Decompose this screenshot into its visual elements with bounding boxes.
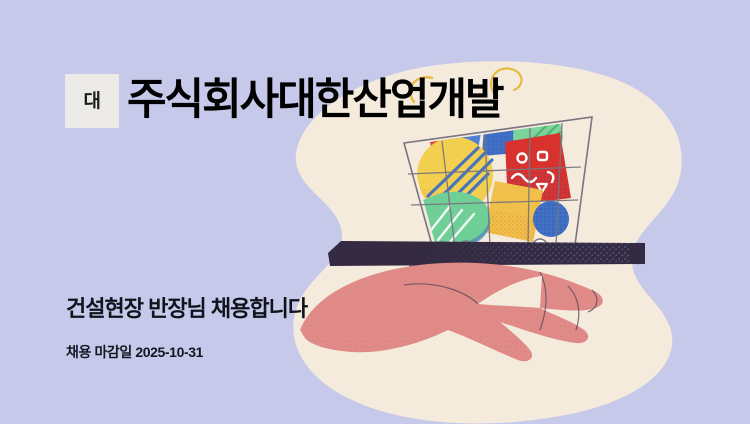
company-logo-initial: 대 xyxy=(84,92,101,111)
company-name: 주식회사대한산업개발 xyxy=(127,72,503,128)
job-headline: 건설현장 반장님 채용합니다 xyxy=(66,294,307,324)
application-deadline: 채용 마감일 2025-10-31 xyxy=(66,342,203,362)
job-recruitment-banner: 대 주식회사대한산업개발 건설현장 반장님 채용합니다 채용 마감일 2025-… xyxy=(0,0,750,424)
company-logo-badge: 대 xyxy=(65,74,119,128)
text-layer: 대 주식회사대한산업개발 건설현장 반장님 채용합니다 채용 마감일 2025-… xyxy=(0,0,750,424)
